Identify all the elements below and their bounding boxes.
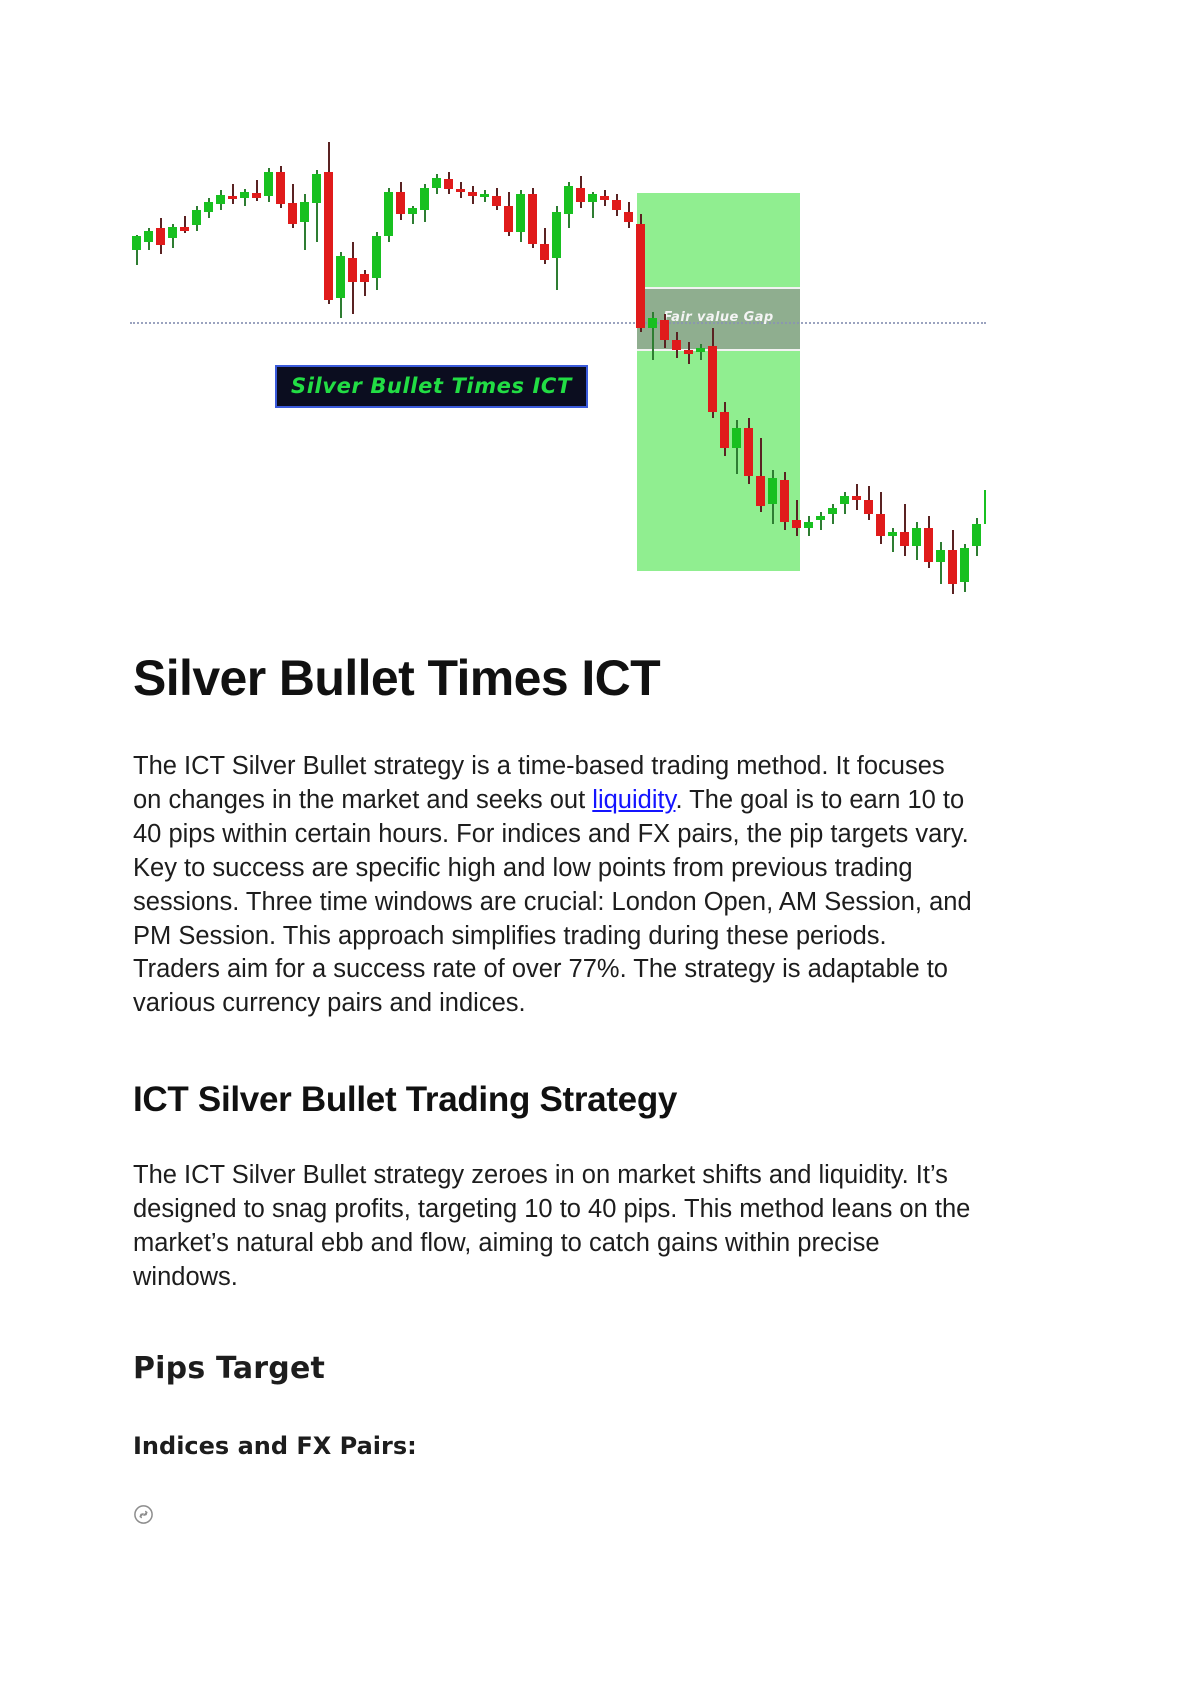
candle-wick [232,184,234,204]
candle-body [204,202,213,212]
candle [456,182,465,198]
candle-body [216,195,225,204]
candle [504,192,513,236]
candle [804,516,813,536]
candle [276,166,285,208]
candle [984,484,986,532]
candle [516,190,525,242]
candle [840,492,849,514]
candle-body [804,522,813,528]
page-title: Silver Bullet Times ICT [133,650,978,706]
candle [480,190,489,202]
candle [972,518,981,556]
candle-body [948,550,957,584]
intro-text-after-link: . The goal is to earn 10 to 40 pips with… [133,786,972,1017]
candle-body [192,210,201,225]
candle-body [960,548,969,582]
candle-body [624,212,633,222]
candle [924,516,933,568]
candle-body [636,224,645,328]
candle-body [828,508,837,514]
candle-body [864,500,873,514]
broken-link-icon[interactable] [133,1504,154,1525]
candle-body [684,350,693,354]
candle [336,252,345,318]
candle-body [972,524,981,546]
candle-body [360,274,369,282]
candle-body [588,194,597,202]
candle [240,189,249,206]
candle [744,418,753,484]
candle-body [936,550,945,562]
strategy-paragraph: The ICT Silver Bullet strategy zeroes in… [133,1159,978,1295]
candle [852,484,861,510]
candle-body [840,496,849,504]
silver-bullet-badge: Silver Bullet Times ICT [275,365,588,408]
candle-body [900,532,909,546]
candle-body [372,236,381,278]
candle-body [408,208,417,214]
candle [960,544,969,592]
candle-body [552,212,561,258]
candle-body [480,194,489,197]
candle-body [924,528,933,562]
candle-body [648,318,657,328]
candle [900,504,909,556]
equilibrium-dotted-line [130,322,986,324]
candle-body [264,172,273,196]
candle-body [396,192,405,214]
candle [540,228,549,264]
candle [216,190,225,210]
candle-body [600,196,609,200]
candle-body [444,179,453,189]
candle-body [912,528,921,546]
candle-body [660,320,669,340]
candle [684,342,693,364]
candle [360,270,369,296]
candle [300,194,309,250]
candle [696,344,705,360]
candle [264,168,273,202]
candle-wick [832,504,834,524]
candle-body [312,174,321,203]
candle-body [276,172,285,204]
candle-wick [700,344,702,360]
document-page: Fair value Gap Silver Bullet Times ICT S… [0,0,1200,1696]
subsection-heading-pips-target: Pips Target [133,1351,978,1387]
candle [396,182,405,220]
candle [288,184,297,228]
candle [948,530,957,594]
candle [660,314,669,348]
candle-body [540,244,549,260]
candle [888,528,897,552]
candle [720,402,729,456]
candle-body [468,192,477,196]
candle-body [504,206,513,232]
candle [372,232,381,290]
candle [384,188,393,242]
article-content: Silver Bullet Times ICT The ICT Silver B… [133,650,978,1530]
candle-body [576,188,585,202]
candle-body [708,346,717,412]
candle-body [792,520,801,528]
candle-wick [940,542,942,584]
candle-body [384,192,393,236]
candle [564,182,573,228]
candle [816,512,825,530]
candle [444,172,453,194]
candle [204,198,213,218]
candle [648,312,657,360]
candle [468,186,477,204]
candle-body [300,202,309,222]
chart-figure: Fair value Gap Silver Bullet Times ICT [130,132,986,602]
candle [864,486,873,520]
candle-body [816,516,825,520]
candle [252,180,261,201]
candle-body [516,194,525,232]
candle-body [180,227,189,231]
candle-body [324,172,333,300]
candle [528,188,537,248]
liquidity-link[interactable]: liquidity [592,786,675,814]
candle [912,522,921,560]
candle [876,492,885,544]
candle [348,242,357,314]
candle-wick [820,512,822,530]
candle-body [732,428,741,448]
candle-body [144,231,153,242]
candle [780,472,789,530]
candle-body [252,193,261,198]
candle [768,470,777,524]
candle-body [672,340,681,350]
candle [612,194,621,216]
candle-wick [904,504,906,556]
section-heading-strategy: ICT Silver Bullet Trading Strategy [133,1079,978,1121]
candle [732,420,741,474]
candle [312,170,321,242]
candle-body [876,514,885,536]
candle [756,438,765,512]
candle [156,218,165,254]
candle-body [852,496,861,500]
candle [792,500,801,536]
candle [708,328,717,418]
candle-body [756,476,765,506]
candle [576,176,585,208]
indices-fx-pairs-label: Indices and FX Pairs: [133,1431,978,1462]
candle [624,202,633,228]
candle-body [348,258,357,282]
candle-body [780,480,789,522]
candle-body [564,186,573,214]
candle-body [432,178,441,188]
candle-body [288,203,297,224]
candle [432,174,441,194]
candle-body [888,532,897,536]
candle [132,235,141,265]
candle-body [228,196,237,199]
candle-body [420,188,429,210]
candle [144,228,153,250]
candle [324,142,333,304]
candle [168,224,177,248]
candle-body [768,478,777,504]
candle-body [132,236,141,250]
candle-body [156,228,165,245]
candle [828,504,837,524]
candle [636,214,645,332]
intro-paragraph: The ICT Silver Bullet strategy is a time… [133,750,978,1021]
candle-body [720,412,729,448]
candle-body [696,348,705,352]
candle [192,206,201,231]
candle-body [240,192,249,198]
candle-body [168,227,177,238]
candle [420,184,429,222]
candle [552,206,561,290]
candle [228,184,237,204]
candle-body [744,428,753,476]
candle [936,542,945,584]
candle [672,332,681,358]
candle-body [612,200,621,210]
candle [180,216,189,233]
candle-body [336,256,345,298]
candle [492,188,501,210]
candle-body [528,194,537,244]
candle [588,192,597,218]
candle [600,190,609,206]
candle-body [492,196,501,206]
candle [408,206,417,224]
candle-wick [796,500,798,536]
candle-body [456,189,465,192]
candle-body [984,490,986,524]
